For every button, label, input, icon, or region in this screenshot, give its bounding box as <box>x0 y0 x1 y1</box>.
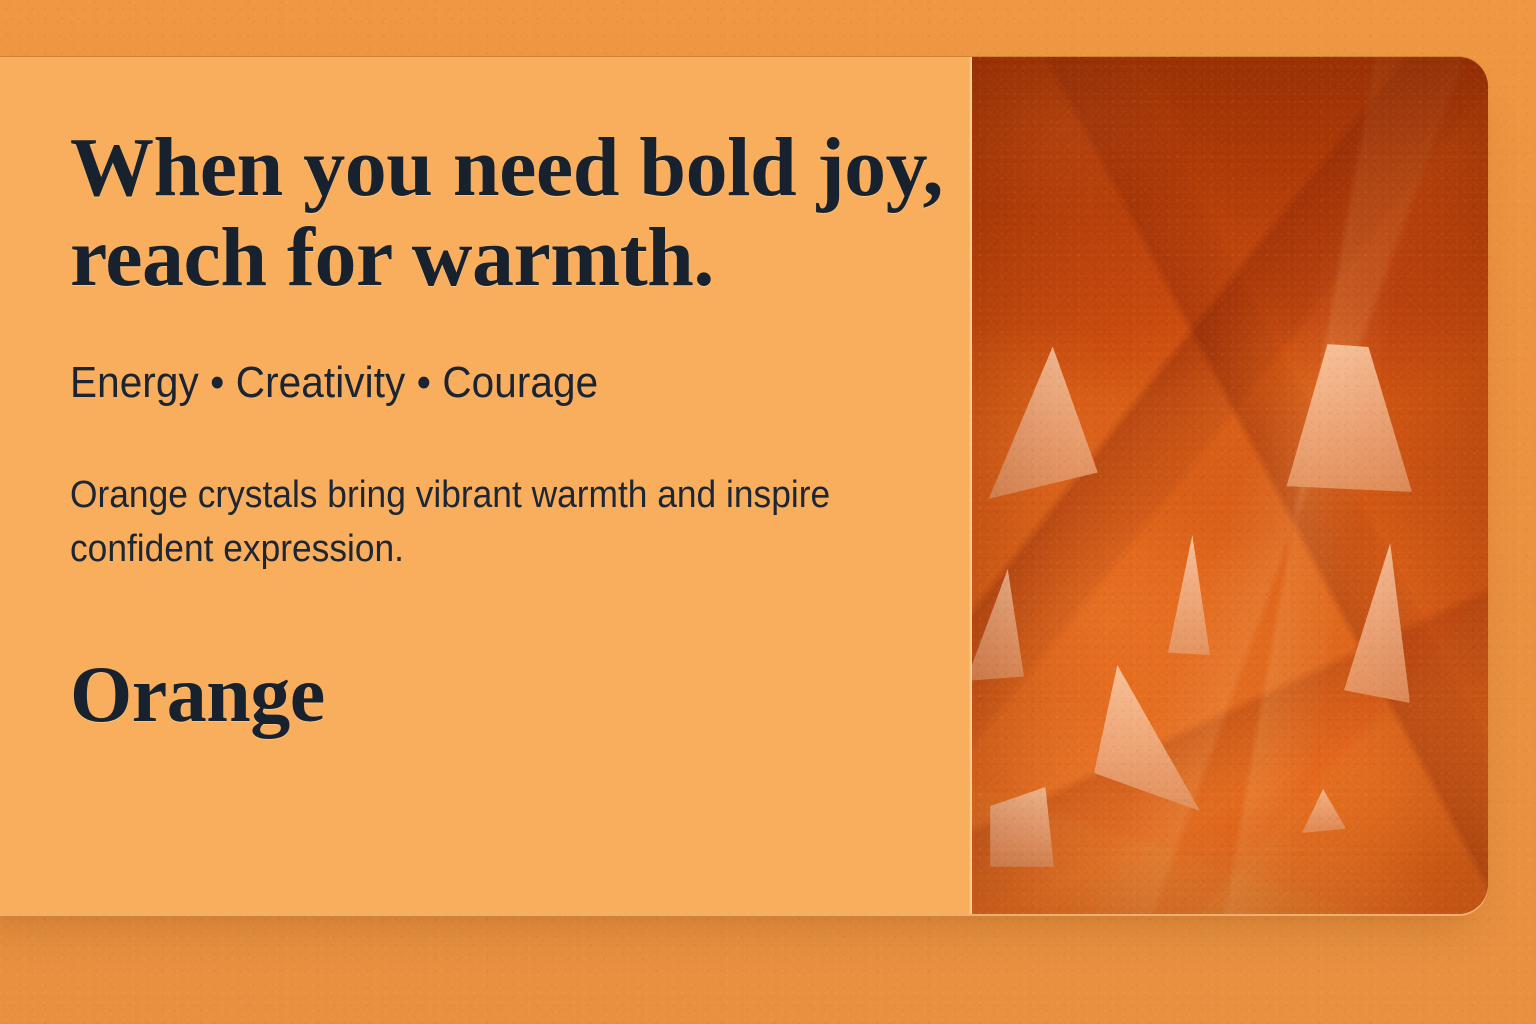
crystal-photo-panel <box>972 57 1488 914</box>
poster-canvas: When you need bold joy, reach for warmth… <box>0 0 1536 1024</box>
card-text-column: When you need bold joy, reach for warmth… <box>0 57 972 914</box>
color-story-card: When you need bold joy, reach for warmth… <box>0 57 1488 914</box>
page-title: When you need bold joy, reach for warmth… <box>70 123 950 303</box>
crystal-photo-grain <box>972 57 1488 914</box>
description-paragraph: Orange crystals bring vibrant warmth and… <box>70 469 879 577</box>
keyword-tagline: Energy • Creativity • Courage <box>70 359 900 407</box>
color-wordmark: Orange <box>70 655 972 735</box>
